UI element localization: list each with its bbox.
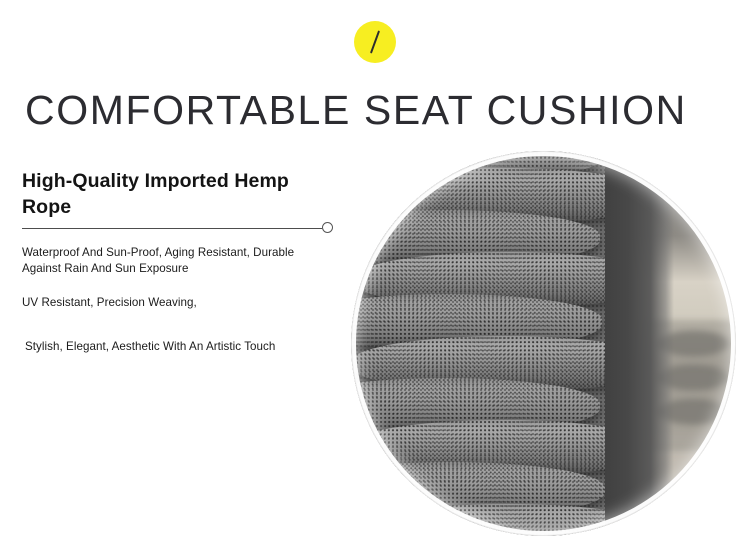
product-photo-crop [351,151,736,536]
slash-badge [354,21,396,63]
feature-bullet-3: Stylish, Elegant, Aesthetic With An Arti… [25,339,335,355]
feature-subheading: High-Quality Imported Hemp Rope [22,168,322,220]
woven-rope-panel [351,151,605,536]
slash-icon [370,30,380,53]
divider-line [22,228,322,229]
product-feature-banner: COMFORTABLE SEAT CUSHION High-Quality Im… [0,0,750,557]
feature-bullet-2: UV Resistant, Precision Weaving, [22,295,332,311]
divider [22,222,334,235]
divider-endpoint-dot [322,222,333,233]
page-title: COMFORTABLE SEAT CUSHION [25,88,687,133]
product-photo [351,151,736,536]
feature-bullet-1: Waterproof And Sun-Proof, Aging Resistan… [22,245,332,278]
